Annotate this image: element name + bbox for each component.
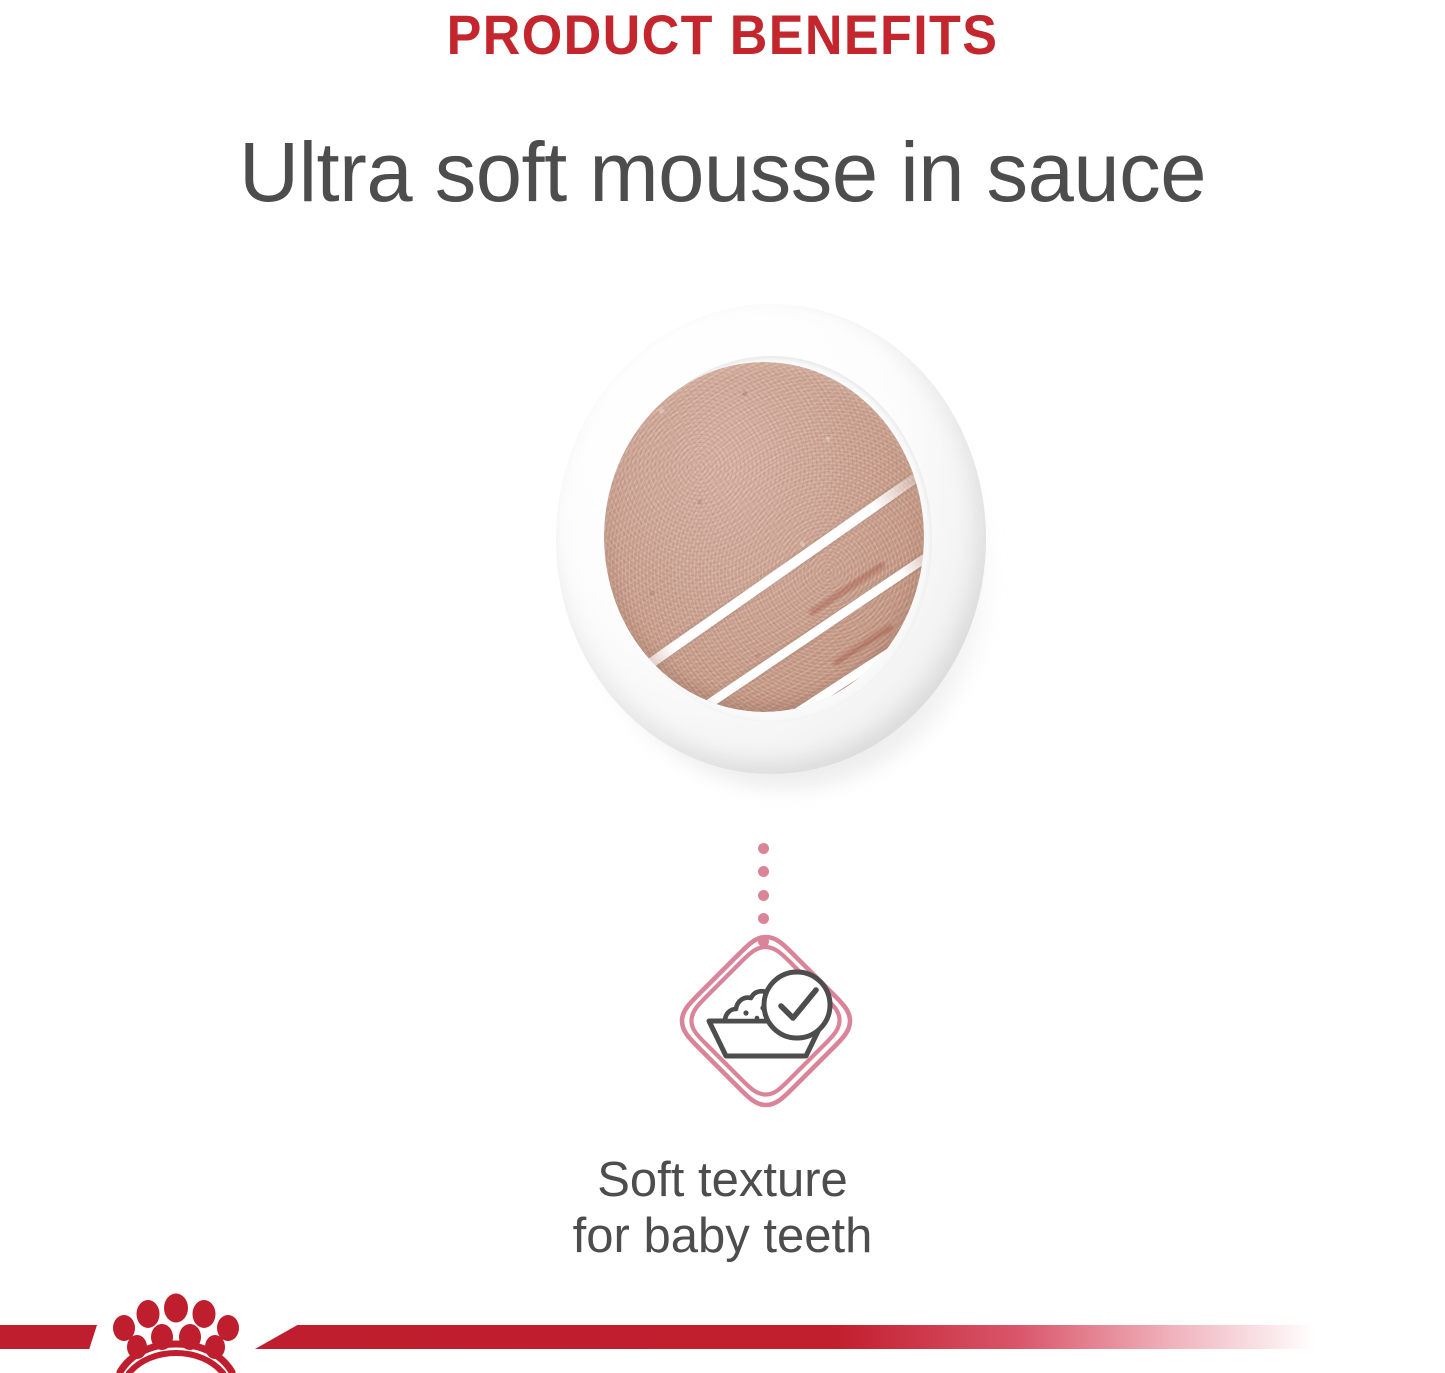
kibble-dot: [743, 1010, 748, 1015]
connector-dot: [758, 843, 769, 854]
check-circle-icon: [764, 972, 830, 1038]
benefit-icon-svg: [673, 928, 859, 1114]
benefit-caption-line2: for baby teeth: [0, 1208, 1445, 1264]
connector-dot: [758, 890, 769, 901]
headline: Ultra soft mousse in sauce: [7, 124, 1438, 221]
benefit-caption-line1: Soft texture: [597, 1153, 848, 1207]
red-band-right: [255, 1325, 1315, 1349]
mousse-pate: [604, 362, 924, 712]
bowl-with-checkmark-icon: [673, 928, 859, 1114]
crown-logo-svg: [96, 1290, 266, 1373]
product-photo: [548, 300, 1008, 800]
product-benefits-panel: PRODUCT BENEFITS Ultra soft mousse in sa…: [0, 0, 1445, 1373]
royal-canin-crown-logo: [96, 1290, 266, 1373]
page-title: PRODUCT BENEFITS: [51, 2, 1395, 67]
kibble-dot: [755, 1016, 760, 1021]
red-band-left: [0, 1325, 97, 1349]
footer: [0, 1290, 1445, 1373]
connector-dot: [758, 866, 769, 877]
connector-dot: [758, 913, 769, 924]
benefit-caption: Soft texture for baby teeth: [0, 1152, 1445, 1264]
crown-dots: [113, 1294, 239, 1360]
